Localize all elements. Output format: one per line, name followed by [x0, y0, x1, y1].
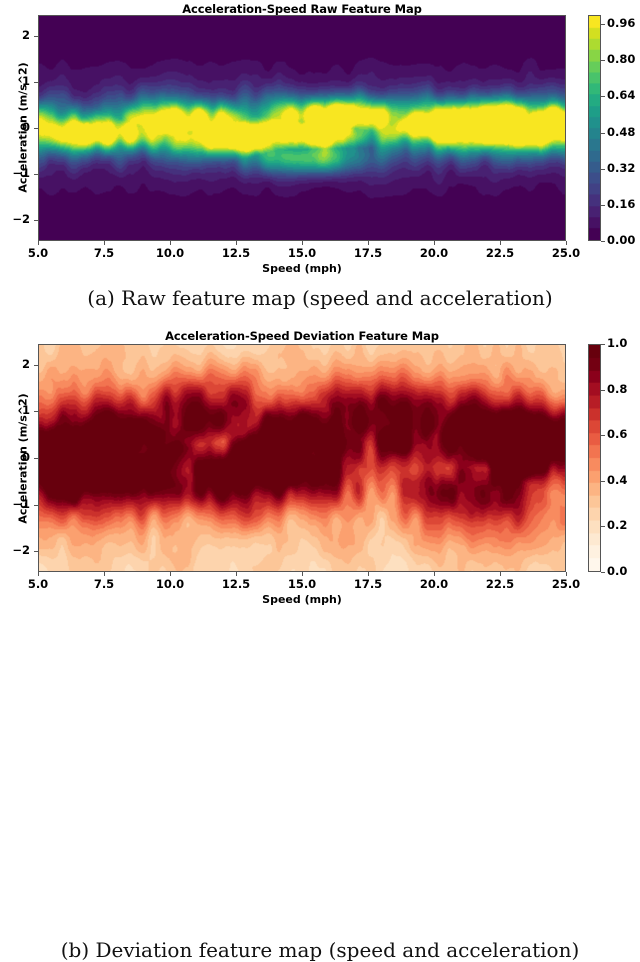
colorbar-tick-label: 0.0 [607, 564, 627, 578]
y-tick-label: 0 [0, 120, 30, 134]
x-tick-label: 20.0 [404, 246, 464, 260]
colorbar-tick-label: 0.6 [607, 427, 627, 441]
x-tick-label: 25.0 [536, 246, 596, 260]
colorbar-tick-label: 0.00 [607, 233, 635, 247]
x-tick-label: 17.5 [338, 577, 398, 591]
x-tick-mark [566, 241, 567, 245]
colorbar-canvas-b [589, 345, 600, 571]
colorbar-tick-label: 0.2 [607, 518, 627, 532]
heatmap-canvas-b [39, 345, 565, 571]
y-tick-mark [34, 458, 38, 459]
x-tick-mark [500, 241, 501, 245]
colorbar-tick-label: 0.4 [607, 473, 627, 487]
colorbar-tick-label: 0.16 [607, 197, 635, 211]
figure-panel-a: Acceleration-Speed Raw Feature Map Accel… [0, 0, 640, 324]
x-tick-mark [434, 572, 435, 576]
x-tick-mark [434, 241, 435, 245]
y-tick-label: −1 [0, 497, 30, 511]
colorbar-tick-label: 0.64 [607, 88, 635, 102]
colorbar-tick-label: 0.80 [607, 52, 635, 66]
x-tick-mark [38, 241, 39, 245]
x-tick-label: 5.0 [8, 246, 68, 260]
colorbar-tick-label: 0.48 [607, 125, 635, 139]
x-tick-mark [566, 572, 567, 576]
colorbar-tick-mark [601, 169, 605, 170]
heatmap-plot-area-b [38, 344, 566, 572]
y-tick-mark [34, 365, 38, 366]
colorbar-tick-mark [601, 60, 605, 61]
x-tick-mark [368, 572, 369, 576]
colorbar-tick-mark [601, 390, 605, 391]
x-tick-mark [170, 241, 171, 245]
y-tick-label: 1 [0, 403, 30, 417]
x-tick-mark [368, 241, 369, 245]
x-tick-label: 10.0 [140, 246, 200, 260]
colorbar-tick-mark [601, 241, 605, 242]
colorbar-canvas-a [589, 16, 600, 240]
colorbar-tick-label: 1.0 [607, 336, 627, 350]
figure-panel-b: Acceleration-Speed Deviation Feature Map… [0, 325, 640, 649]
x-tick-mark [236, 241, 237, 245]
x-tick-label: 10.0 [140, 577, 200, 591]
y-tick-label: 0 [0, 450, 30, 464]
y-tick-label: −2 [0, 543, 30, 557]
y-tick-mark [34, 82, 38, 83]
x-tick-label: 22.5 [470, 577, 530, 591]
y-tick-label: −1 [0, 166, 30, 180]
colorbar-tick-label: 0.96 [607, 16, 635, 30]
colorbar-tick-label: 0.8 [607, 382, 627, 396]
x-tick-label: 7.5 [74, 577, 134, 591]
y-tick-label: 1 [0, 74, 30, 88]
x-tick-label: 25.0 [536, 577, 596, 591]
figure-caption-a: (a) Raw feature map (speed and accelerat… [0, 286, 640, 310]
y-tick-label: −2 [0, 212, 30, 226]
x-tick-label: 15.0 [272, 577, 332, 591]
x-axis-label: Speed (mph) [38, 593, 566, 606]
x-tick-label: 17.5 [338, 246, 398, 260]
y-tick-label: 2 [0, 357, 30, 371]
x-tick-label: 12.5 [206, 246, 266, 260]
colorbar-tick-mark [601, 481, 605, 482]
colorbar-tick-mark [601, 344, 605, 345]
x-tick-mark [38, 572, 39, 576]
heatmap-canvas-a [39, 16, 565, 240]
y-tick-mark [34, 128, 38, 129]
colorbar-tick-mark [601, 96, 605, 97]
colorbar-tick-mark [601, 435, 605, 436]
colorbar-tick-mark [601, 24, 605, 25]
chart-title: Acceleration-Speed Raw Feature Map [38, 2, 566, 16]
x-tick-label: 22.5 [470, 246, 530, 260]
figure-caption-b: (b) Deviation feature map (speed and acc… [0, 938, 640, 962]
y-tick-mark [34, 551, 38, 552]
y-tick-mark [34, 505, 38, 506]
x-tick-mark [104, 572, 105, 576]
y-tick-mark [34, 174, 38, 175]
x-tick-label: 20.0 [404, 577, 464, 591]
colorbar-tick-label: 0.32 [607, 161, 635, 175]
x-tick-label: 12.5 [206, 577, 266, 591]
colorbar-tick-mark [601, 205, 605, 206]
x-tick-label: 5.0 [8, 577, 68, 591]
heatmap-plot-area-a [38, 15, 566, 241]
x-axis-label: Speed (mph) [38, 262, 566, 275]
x-tick-label: 7.5 [74, 246, 134, 260]
x-tick-mark [104, 241, 105, 245]
y-tick-label: 2 [0, 28, 30, 42]
colorbar-b [588, 344, 601, 572]
x-tick-mark [302, 241, 303, 245]
colorbar-tick-mark [601, 133, 605, 134]
y-tick-mark [34, 220, 38, 221]
x-tick-mark [302, 572, 303, 576]
y-tick-mark [34, 36, 38, 37]
chart-title: Acceleration-Speed Deviation Feature Map [38, 329, 566, 343]
colorbar-tick-mark [601, 572, 605, 573]
x-tick-mark [500, 572, 501, 576]
y-tick-mark [34, 411, 38, 412]
x-tick-label: 15.0 [272, 246, 332, 260]
x-tick-mark [170, 572, 171, 576]
colorbar-tick-mark [601, 526, 605, 527]
x-tick-mark [236, 572, 237, 576]
colorbar-a [588, 15, 601, 241]
